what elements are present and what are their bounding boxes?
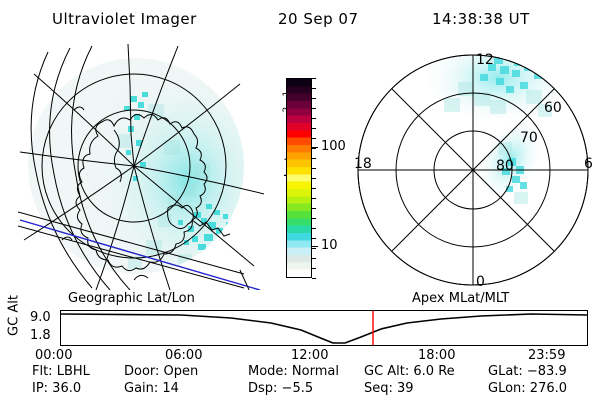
orbit-xtick-2: 12:00	[291, 348, 328, 363]
orbit-ytick-low: 1.8	[30, 328, 51, 343]
colorbar-label-10: 10	[321, 239, 338, 252]
orbit-xtick-3: 18:00	[418, 348, 455, 363]
colorbar-minor-tick	[312, 148, 316, 149]
mlt-ring-label-80: 80	[496, 158, 514, 174]
status-gain: Gain: 14	[124, 381, 179, 396]
mlt-emission-overlay	[428, 42, 568, 208]
colorbar-minor-tick	[312, 178, 316, 179]
mlt-polar-plot: 12 6 0 18 60 70 80	[348, 42, 600, 294]
orbit-xtick-4: 23:59	[528, 348, 565, 363]
status-glat: GLat: −83.9	[488, 364, 567, 379]
geographic-polar-plot	[18, 44, 264, 290]
mlt-spokes	[358, 55, 588, 285]
status-mode: Mode: Normal	[248, 364, 339, 379]
status-footer: Flt: LBHL Door: Open Mode: Normal GC Alt…	[0, 364, 600, 400]
colorbar-minor-tick	[312, 278, 316, 279]
colorbar-minor-tick	[312, 118, 316, 119]
status-flight: Flt: LBHL	[32, 364, 90, 379]
colorbar-gradient	[287, 79, 311, 277]
mlt-label-18: 18	[354, 156, 372, 172]
colorbar-scale	[286, 78, 312, 278]
orbit-ytick-high: 9.0	[30, 310, 51, 325]
status-door: Door: Open	[124, 364, 198, 379]
observation-date: 20 Sep 07	[278, 10, 358, 28]
status-seq: Seq: 39	[364, 381, 414, 396]
observation-time: 14:38:38 UT	[432, 10, 530, 28]
colorbar-minor-tick	[312, 128, 316, 129]
status-glon: GLon: 276.0	[488, 381, 567, 396]
colorbar-minor-tick	[312, 108, 316, 109]
colorbar-minor-tick	[312, 188, 316, 189]
mlt-label-6: 6	[584, 156, 593, 172]
colorbar-minor-tick	[312, 258, 316, 259]
status-ip: IP: 36.0	[32, 381, 81, 396]
status-dsp: Dsp: −5.5	[248, 381, 313, 396]
header-bar: Ultraviolet Imager 20 Sep 07 14:38:38 UT	[0, 6, 600, 32]
colorbar-minor-tick	[312, 268, 316, 269]
mlt-plot-svg: 12 6 0 18 60 70 80	[348, 42, 600, 294]
emission-overlay	[28, 58, 248, 274]
orbit-caption-apex: Apex MLat/MLT	[412, 291, 509, 306]
colorbar-minor-tick	[312, 138, 316, 139]
colorbar-minor-tick	[312, 168, 316, 169]
colorbar-minor-tick	[312, 198, 316, 199]
mlt-label-0: 0	[476, 274, 485, 290]
orbit-altitude-curve	[61, 314, 587, 343]
colorbar-minor-tick	[312, 218, 316, 219]
colorbar-minor-tick	[312, 238, 316, 239]
orbit-altitude-panel: GC Alt 9.0 1.8 Geographic Lat/Lon Apex M…	[0, 292, 600, 360]
colorbar-minor-tick	[312, 88, 316, 89]
orbit-plot-box	[60, 310, 588, 346]
colorbar-minor-tick	[312, 248, 316, 249]
colorbar-minor-tick	[312, 228, 316, 229]
mlt-ring-label-70: 70	[520, 130, 538, 146]
orbit-curve-svg	[61, 311, 587, 345]
orbit-xtick-1: 06:00	[165, 348, 202, 363]
mlt-label-12: 12	[476, 52, 494, 68]
orbit-caption-geographic: Geographic Lat/Lon	[68, 291, 195, 306]
colorbar-label-100: 100	[321, 140, 346, 153]
instrument-title: Ultraviolet Imager	[52, 10, 197, 28]
mlt-ring-label-60: 60	[544, 100, 562, 116]
orbit-xtick-0: 00:00	[35, 348, 72, 363]
colorbar-minor-tick	[312, 208, 316, 209]
colorbar-panel: photon cm-2s-1 100 10	[266, 52, 346, 292]
status-gc-alt: GC Alt: 6.0 Re	[364, 364, 455, 379]
colorbar-minor-tick	[312, 78, 316, 79]
colorbar-minor-tick	[312, 98, 316, 99]
colorbar-minor-tick	[312, 158, 316, 159]
colorbar-tick-10	[312, 246, 318, 247]
geographic-plot-svg	[18, 44, 264, 290]
orbit-y-axis-label: GC Alt	[7, 286, 22, 346]
